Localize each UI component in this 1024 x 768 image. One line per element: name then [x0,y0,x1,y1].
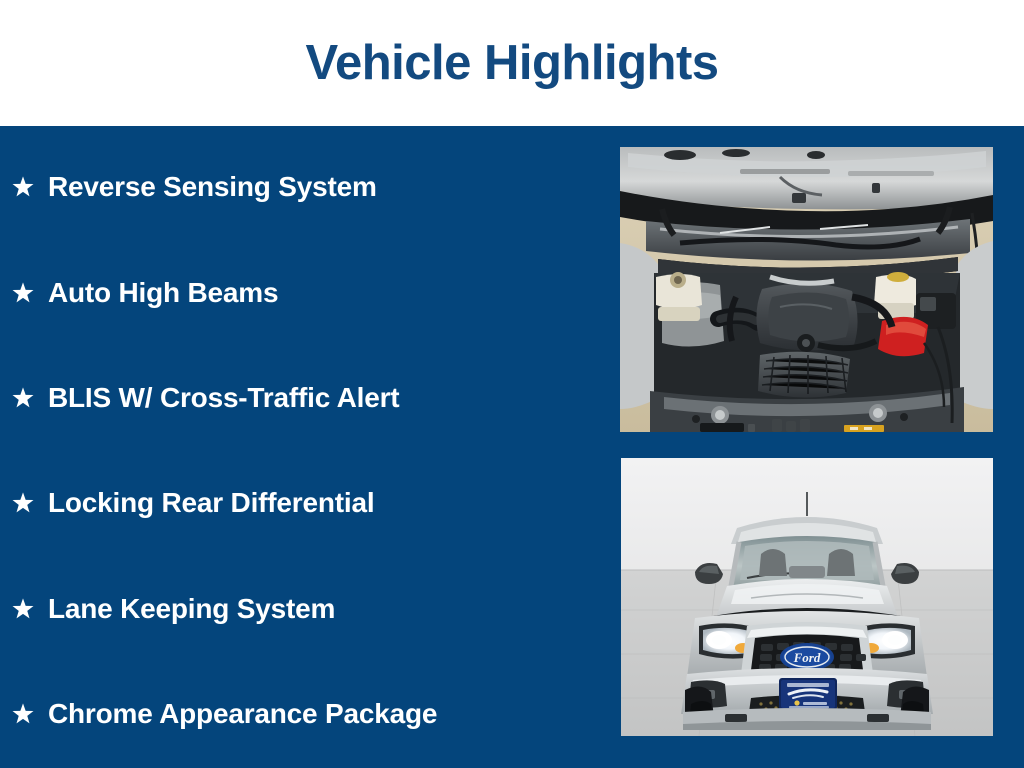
header-band: Vehicle Highlights [0,0,1024,126]
list-item-label: Lane Keeping System [48,593,335,625]
highlights-list: Reverse Sensing System Auto High Beams B… [0,126,600,768]
star-icon [10,385,36,411]
slide: Vehicle Highlights Reverse Sensing Syste… [0,0,1024,768]
page-title: Vehicle Highlights [0,34,1024,92]
list-item-label: Auto High Beams [48,277,278,309]
truck-front-illustration: Ford [621,458,993,736]
star-icon [10,596,36,622]
list-item: Reverse Sensing System [10,167,377,207]
star-icon [10,701,36,727]
list-item: Auto High Beams [10,273,278,313]
star-icon [10,490,36,516]
star-icon [10,280,36,306]
list-item-label: BLIS W/ Cross-Traffic Alert [48,382,399,414]
list-item: BLIS W/ Cross-Traffic Alert [10,378,399,418]
truck-front-photo: Ford [621,458,993,736]
list-item: Locking Rear Differential [10,483,374,523]
list-item-label: Locking Rear Differential [48,487,374,519]
engine-bay-illustration [620,147,993,432]
list-item: Lane Keeping System [10,589,335,629]
engine-bay-photo [620,147,993,432]
list-item: Chrome Appearance Package [10,694,437,734]
list-item-label: Chrome Appearance Package [48,698,437,730]
list-item-label: Reverse Sensing System [48,171,377,203]
star-icon [10,174,36,200]
svg-text:Ford: Ford [793,650,821,665]
